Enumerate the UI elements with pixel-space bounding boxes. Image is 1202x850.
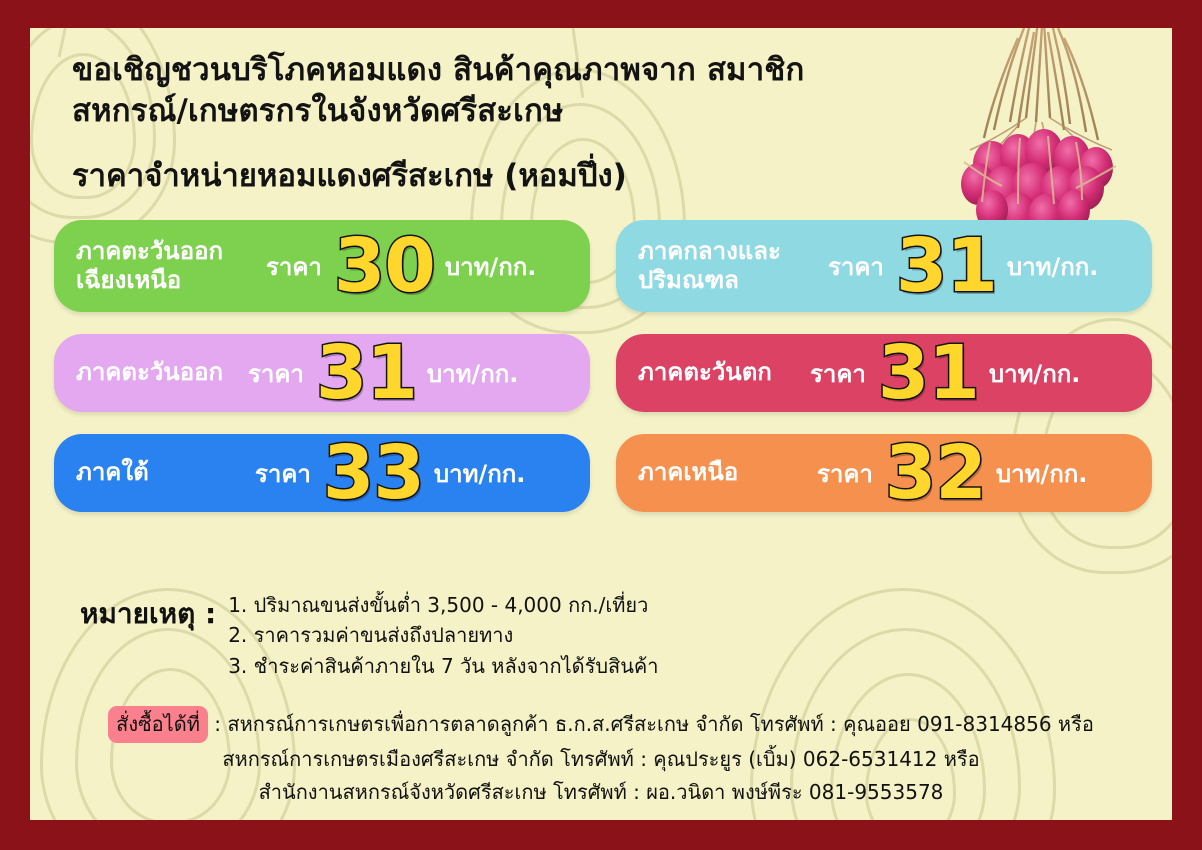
price-card-central[interactable]: ภาคกลางและ ปริมณฑล ราคา 31 บาท/กก. (616, 220, 1152, 312)
price-card-west[interactable]: ภาคตะวันตก ราคา 31 บาท/กก. (616, 334, 1152, 412)
price-unit: บาท/กก. (445, 247, 536, 286)
notes-list: 1. ปริมาณขนส่งขั้นต่ำ 3,500 - 4,000 กก./… (228, 590, 658, 681)
price-card-east[interactable]: ภาคตะวันออก ราคา 31 บาท/กก. (54, 334, 590, 412)
price-unit: บาท/กก. (996, 454, 1087, 493)
price-unit: บาท/กก. (427, 354, 518, 393)
price-unit: บาท/กก. (989, 354, 1080, 393)
region-label: ภาคตะวันออก (76, 358, 244, 387)
price-card-northeast[interactable]: ภาคตะวันออก เฉียงเหนือ ราคา 30 บาท/กก. (54, 220, 590, 312)
order-here-badge: สั่งซื้อได้ที่ (108, 706, 208, 743)
price-value: 30 (334, 231, 435, 301)
poster-border: ขอเชิญชวนบริโภคหอมแดง สินค้าคุณภาพจาก สม… (0, 0, 1202, 850)
price-value: 31 (316, 338, 417, 408)
notes-title: หมายเหตุ : (80, 590, 216, 681)
price-value: 32 (885, 438, 986, 508)
price-word-label: ราคา (248, 354, 304, 393)
poster-canvas: ขอเชิญชวนบริโภคหอมแดง สินค้าคุณภาพจาก สม… (30, 28, 1172, 820)
price-card-south[interactable]: ภาคใต้ ราคา 33 บาท/กก. (54, 434, 590, 512)
region-label: ภาคตะวันออก เฉียงเหนือ (76, 237, 262, 296)
price-word-label: ราคา (255, 454, 311, 493)
notes-section: หมายเหตุ : 1. ปริมาณขนส่งขั้นต่ำ 3,500 -… (80, 590, 659, 681)
price-value: 31 (896, 231, 997, 301)
contact-section: สั่งซื้อได้ที่ : สหกรณ์การเกษตรเพื่อการต… (30, 706, 1172, 808)
price-word-label: ราคา (828, 247, 884, 286)
page-title: ขอเชิญชวนบริโภคหอมแดง สินค้าคุณภาพจาก สม… (72, 50, 862, 132)
contact-line-3: สำนักงานสหกรณ์จังหวัดศรีสะเกษ โทรศัพท์ :… (30, 776, 1172, 808)
price-word-label: ราคา (817, 454, 873, 493)
contact-line-1: สั่งซื้อได้ที่ : สหกรณ์การเกษตรเพื่อการต… (30, 706, 1172, 743)
shallot-bundle-image (930, 28, 1150, 252)
price-card-north[interactable]: ภาคเหนือ ราคา 32 บาท/กก. (616, 434, 1152, 512)
region-label: ภาคใต้ (76, 458, 251, 487)
price-word-label: ราคา (266, 247, 322, 286)
note-item: 1. ปริมาณขนส่งขั้นต่ำ 3,500 - 4,000 กก./… (228, 590, 658, 620)
price-value: 33 (323, 438, 424, 508)
price-value: 31 (878, 338, 979, 408)
price-unit: บาท/กก. (434, 454, 525, 493)
price-word-label: ราคา (810, 354, 866, 393)
region-label: ภาคเหนือ (638, 458, 813, 487)
contact-line-2: สหกรณ์การเกษตรเมืองศรีสะเกษ จำกัด โทรศัพ… (30, 743, 1172, 775)
note-item: 3. ชำระค่าสินค้าภายใน 7 วัน หลังจากได้รั… (228, 651, 658, 681)
page-subtitle: ราคาจำหน่ายหอมแดงศรีสะเกษ (หอมปึ่ง) (72, 156, 832, 196)
region-label: ภาคกลางและ ปริมณฑล (638, 237, 824, 296)
note-item: 2. ราคารวมค่าขนส่งถึงปลายทาง (228, 620, 658, 650)
region-label: ภาคตะวันตก (638, 358, 806, 387)
price-unit: บาท/กก. (1007, 247, 1098, 286)
price-card-grid: ภาคตะวันออก เฉียงเหนือ ราคา 30 บาท/กก. ภ… (54, 220, 1152, 534)
contact-text: สหกรณ์การเกษตรเพื่อการตลาดลูกค้า ธ.ก.ส.ศ… (227, 712, 1094, 736)
contact-separator: : (214, 712, 221, 736)
